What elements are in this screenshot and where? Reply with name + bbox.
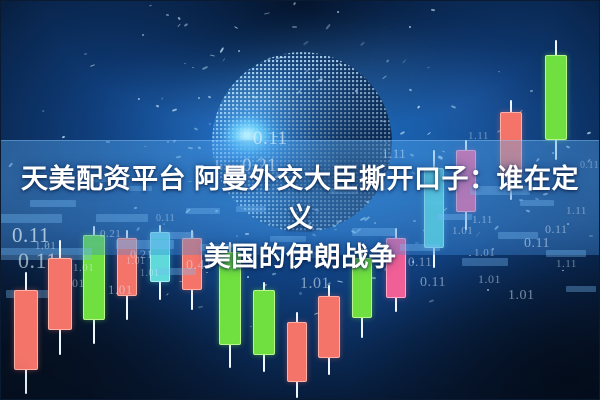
candle-body [253, 290, 275, 355]
bar-tick [30, 200, 76, 207]
bar-tick [470, 186, 530, 195]
candle-body [456, 150, 476, 212]
bar-tick [0, 248, 92, 260]
particle [299, 291, 302, 294]
candle-body [545, 55, 567, 140]
particle [273, 135, 278, 137]
bar-tick [80, 176, 110, 182]
particle [166, 14, 169, 17]
bar-tick [116, 240, 174, 249]
bar-tick [236, 206, 266, 212]
particle [245, 109, 248, 111]
bar-tick [566, 286, 596, 292]
bar-tick [498, 232, 538, 239]
bar-tick [352, 228, 396, 236]
candle-body [318, 296, 340, 358]
candle-body [287, 322, 307, 382]
particle [188, 146, 193, 149]
particle [184, 62, 186, 64]
candlestick [83, 226, 105, 344]
particle [487, 289, 489, 291]
bar-tick [156, 268, 196, 275]
bar-tick [546, 250, 586, 257]
candle-body [14, 290, 38, 370]
bar-tick [462, 258, 508, 266]
bar-tick [330, 188, 358, 194]
particle [292, 26, 297, 28]
particle [384, 142, 386, 144]
particle [134, 207, 137, 209]
candle-body [219, 252, 241, 345]
particle [237, 49, 240, 52]
bar-tick [400, 244, 440, 251]
bar-tick [520, 200, 554, 206]
banner-image: 0.110.110.111.011.011.010.211.011.010.11… [0, 0, 600, 400]
candle-body [182, 238, 202, 290]
candlestick [14, 272, 38, 394]
globe-light-core [225, 118, 269, 152]
candlestick [287, 312, 307, 398]
particle [589, 235, 593, 237]
candlestick [318, 285, 340, 375]
candlestick [219, 242, 241, 368]
particle [234, 106, 237, 109]
bar-tick [300, 252, 330, 258]
particle [188, 180, 192, 182]
bar-tick [186, 208, 220, 214]
candlestick [352, 248, 372, 338]
candle-body [424, 168, 444, 248]
candlestick [253, 282, 275, 372]
bar-tick [0, 214, 62, 223]
candlestick [386, 228, 406, 312]
candlestick [500, 100, 522, 200]
bar-tick [438, 214, 472, 220]
candle-body [500, 112, 522, 178]
bar-tick [96, 214, 148, 222]
particle [431, 8, 435, 11]
candlestick [545, 40, 567, 160]
candle-body [48, 258, 72, 330]
candlestick [48, 240, 72, 355]
bar-tick [128, 186, 152, 191]
particle [245, 233, 249, 235]
bar-tick [270, 236, 306, 242]
bar-tick [150, 232, 194, 239]
particle [106, 141, 110, 143]
particle [84, 52, 87, 54]
candle-body [352, 258, 372, 318]
